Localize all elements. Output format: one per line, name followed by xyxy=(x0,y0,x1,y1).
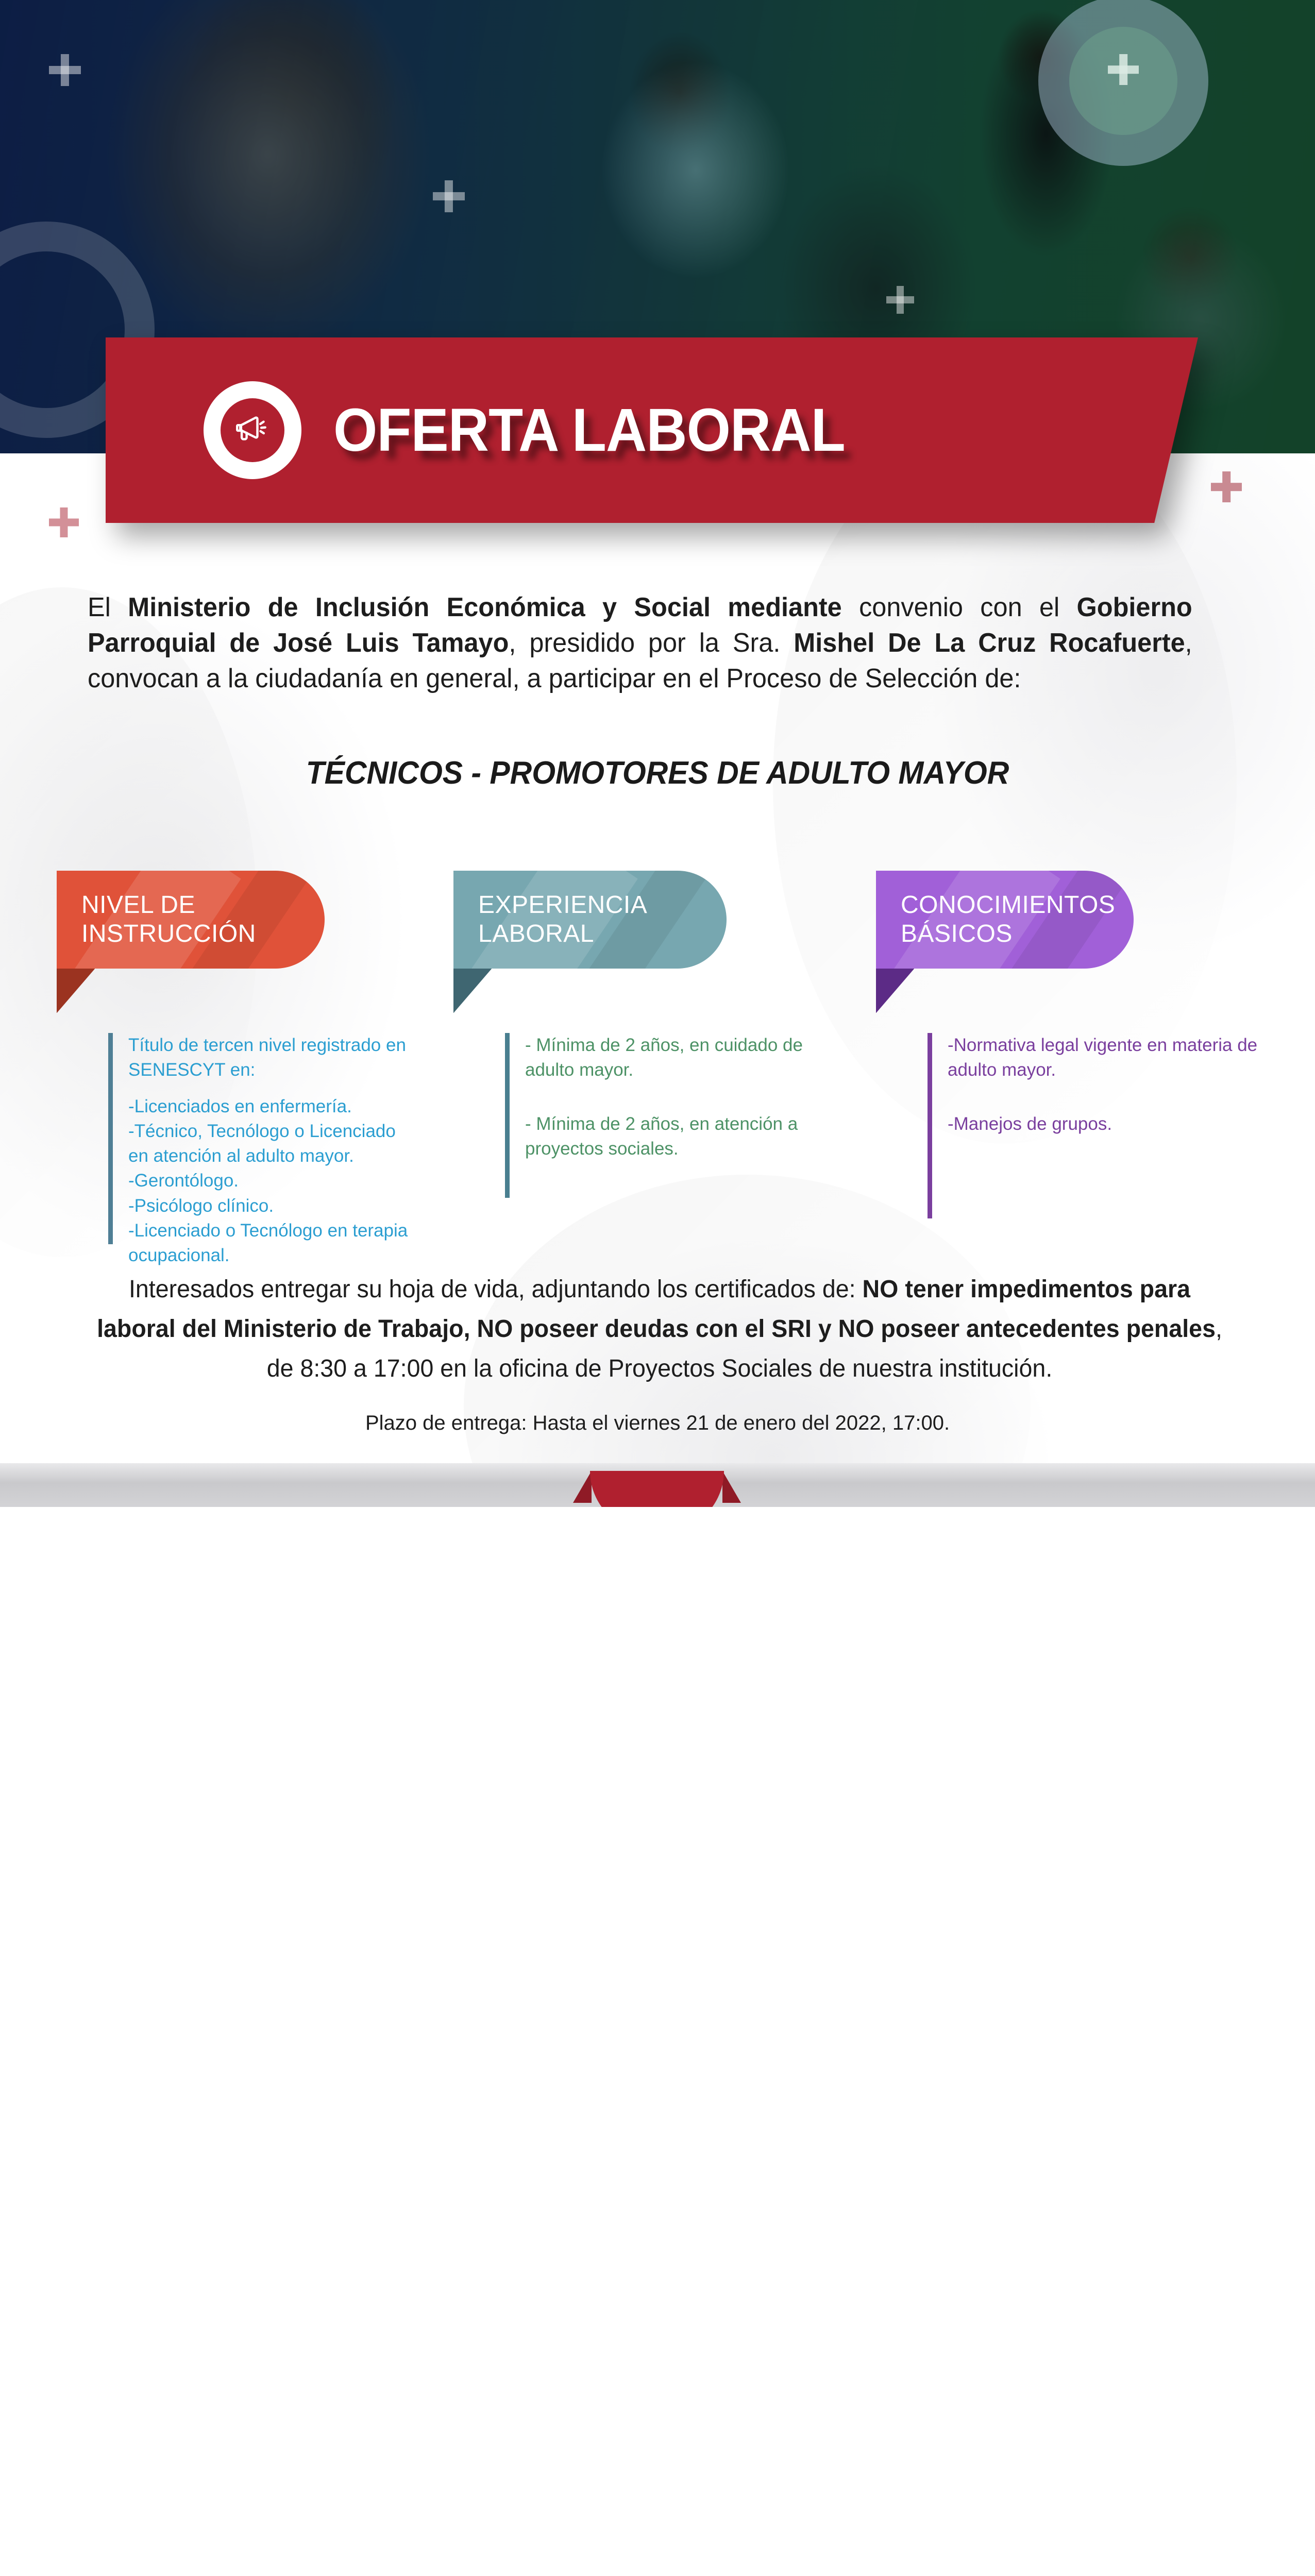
role-title: TÉCNICOS - PROMOTORES DE ADULTO MAYOR xyxy=(33,755,1282,791)
plus-icon xyxy=(1211,471,1242,502)
requirements-columns: NIVEL DE INSTRUCCIÓN Título de tercen ni… xyxy=(0,871,1315,1262)
column-text-experiencia: - Mínima de 2 años, en cuidado de adulto… xyxy=(525,1033,814,1198)
tab-label-line1: EXPERIENCIA xyxy=(478,891,647,920)
intro-part2: convenio con el xyxy=(842,592,1077,622)
list-item: Título de tercen nivel registrado en SEN… xyxy=(128,1033,417,1083)
plus-icon xyxy=(1108,54,1139,85)
megaphone-icon-ring xyxy=(204,381,301,479)
column-text-conocimientos: -Normativa legal vigente en materia de a… xyxy=(948,1033,1268,1218)
plus-icon xyxy=(886,286,914,314)
column-rule xyxy=(505,1033,510,1198)
tab-fold xyxy=(57,969,95,1013)
plus-icon xyxy=(49,54,81,86)
tab-label-line2: LABORAL xyxy=(478,920,647,948)
intro-paragraph: El Ministerio de Inclusión Económica y S… xyxy=(88,590,1192,697)
intro-bold3: Mishel De La Cruz Rocafuerte xyxy=(794,628,1185,658)
tab-label-line2: INSTRUCCIÓN xyxy=(81,920,256,948)
tab-label-line1: NIVEL DE xyxy=(81,891,256,920)
list-item: -Psicólogo clínico. xyxy=(128,1194,417,1218)
column-experiencia-laboral: EXPERIENCIA LABORAL - Mínima de 2 años, … xyxy=(453,871,814,969)
list-item: -Manejos de grupos. xyxy=(948,1112,1268,1137)
intro-part1: El xyxy=(88,592,128,622)
tab-label-line1: CONOCIMIENTOS xyxy=(901,891,1115,920)
column-text-nivel: Título de tercen nivel registrado en SEN… xyxy=(128,1033,417,1268)
list-item: -Licenciados en enfermería. xyxy=(128,1094,417,1119)
plus-icon xyxy=(49,507,79,537)
application-note: Interesados entregar su hoja de vida, ad… xyxy=(95,1270,1224,1388)
intro-bold1: Ministerio de Inclusión Económica y Soci… xyxy=(128,592,842,622)
tab-experiencia-laboral: EXPERIENCIA LABORAL xyxy=(453,871,727,969)
tab-label-line2: BÁSICOS xyxy=(901,920,1115,948)
list-item: - Mínima de 2 años, en cuidado de adulto… xyxy=(525,1033,814,1083)
list-item: -Licenciado o Tecnólogo en terapia ocupa… xyxy=(128,1218,417,1268)
oferta-laboral-banner: OFERTA LABORAL xyxy=(106,337,1198,523)
footer: # Mishel DeLaCruz PRESIDENTA Muey no se … xyxy=(0,1507,1315,1669)
page-title: OFERTA LABORAL xyxy=(333,395,845,465)
deadline-text: Plazo de entrega: Hasta el viernes 21 de… xyxy=(0,1412,1315,1435)
list-item: -Técnico, Tecnólogo o Licenciado en aten… xyxy=(128,1119,417,1169)
note-part1: Interesados entregar su hoja de vida, ad… xyxy=(129,1276,863,1303)
list-item: -Normativa legal vigente en materia de a… xyxy=(948,1033,1268,1083)
column-conocimientos-basicos: CONOCIMIENTOS BÁSICOS -Normativa legal v… xyxy=(876,871,1268,969)
megaphone-icon xyxy=(233,411,272,450)
plus-icon xyxy=(433,180,465,212)
tab-fold xyxy=(876,969,914,1013)
tab-fold xyxy=(453,969,492,1013)
column-nivel-de-instruccion: NIVEL DE INSTRUCCIÓN Título de tercen ni… xyxy=(57,871,417,969)
list-item: -Gerontólogo. xyxy=(128,1168,417,1193)
tab-nivel-de-instruccion: NIVEL DE INSTRUCCIÓN xyxy=(57,871,325,969)
list-item: - Mínima de 2 años, en atención a proyec… xyxy=(525,1112,814,1162)
intro-part3: , presidido por la Sra. xyxy=(509,628,794,658)
column-rule xyxy=(108,1033,113,1244)
tab-conocimientos-basicos: CONOCIMIENTOS BÁSICOS xyxy=(876,871,1134,969)
column-rule xyxy=(928,1033,932,1218)
